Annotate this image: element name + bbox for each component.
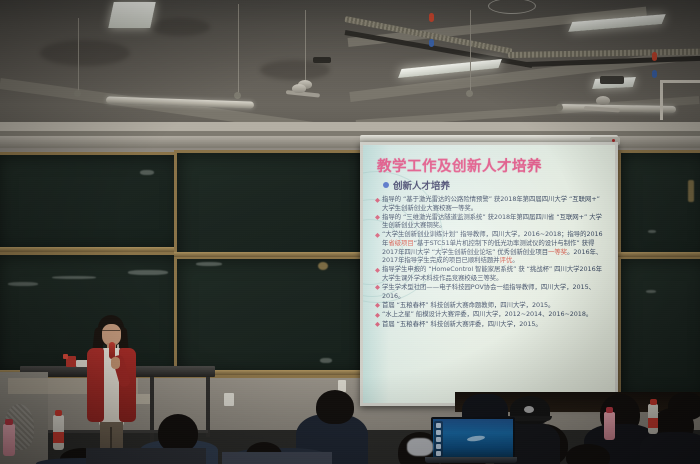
slide-bullet-text: “水上之星” 船模设计大赛评委，四川大学，2012~2014、2016~2018… bbox=[382, 310, 592, 319]
slide-bullet: ◆首届 “五粮春杯” 科技创新大赛评委，四川大学，2015。 bbox=[375, 320, 607, 329]
lit-fluorescent-panel bbox=[108, 2, 156, 28]
ceiling bbox=[0, 0, 700, 146]
slide-title: 教学工作及创新人才培养 bbox=[377, 155, 542, 176]
presenter-hand bbox=[111, 357, 120, 369]
slide-bullet-text: 指导的 “基于激光雷达的公路险情预警” 获2018年第四届四川大学 “互联网+”… bbox=[382, 195, 607, 212]
bullet-segment: 指导的 “基于激光雷达的公路险情预警” 获2018年第四届四川大学 “互联网+”… bbox=[382, 195, 600, 212]
student-laptop[interactable] bbox=[425, 417, 517, 464]
diamond-bullet-icon: ◆ bbox=[375, 320, 380, 329]
bullet-segment: 。 bbox=[512, 256, 518, 264]
highlighted-phrase: 一等奖 bbox=[548, 248, 567, 256]
student-desk bbox=[222, 452, 332, 464]
student-desk bbox=[86, 448, 206, 464]
lecture-hall-photo: 教学工作及创新人才培养 创新人才培养 ◆指导的 “基于激光雷达的公路险情预警” … bbox=[0, 0, 700, 464]
chalkboard-right-lower bbox=[618, 256, 700, 402]
audience-head bbox=[668, 392, 700, 420]
eyeglasses-icon bbox=[102, 330, 120, 335]
slide-bullet: ◆“大学生创新创业训练计划” 指导教师，四川大学，2016~2018；指导的20… bbox=[375, 230, 607, 264]
diamond-bullet-icon: ◆ bbox=[375, 231, 380, 265]
slide-bullet-text: “大学生创新创业训练计划” 指导教师，四川大学，2016~2018；指导的201… bbox=[382, 230, 607, 264]
water-bottle bbox=[604, 412, 615, 440]
projection-screen-frame: 教学工作及创新人才培养 创新人才培养 ◆指导的 “基于激光雷达的公路险情预警” … bbox=[360, 142, 618, 406]
bullet-segment: 指导学生申报的 “HomeControl 智能家居系统” 获 “挑战杯” 四川大… bbox=[382, 265, 602, 282]
slide-bullet-text: 首届 “五粮春杯” 科技创新大赛评委，四川大学，2015。 bbox=[382, 320, 542, 329]
slide-bullet-text: 指导学生申报的 “HomeControl 智能家居系统” 获 “挑战杯” 四川大… bbox=[382, 265, 607, 282]
bullet-segment: 首届 “五粮春杯” 科技创新大赛评委，四川大学，2015。 bbox=[382, 320, 542, 328]
audience-head bbox=[316, 390, 354, 424]
diamond-bullet-icon: ◆ bbox=[375, 283, 380, 300]
slide-bullet: ◆指导的 “三维激光雷达隧道监测系统” 获2018年第四届四川省 “互联网+” … bbox=[375, 213, 607, 230]
diamond-bullet-icon: ◆ bbox=[375, 311, 380, 320]
bullet-segment: 指导的 “三维激光雷达隧道监测系统” 获2018年第四届四川省 “互联网+” 大… bbox=[382, 213, 602, 230]
bullet-segment: “水上之星” 船模设计大赛评委，四川大学，2012~2014、2016~2018… bbox=[382, 310, 592, 318]
diamond-bullet-icon: ◆ bbox=[375, 301, 380, 310]
slide-bullet: ◆“水上之星” 船模设计大赛评委，四川大学，2012~2014、2016~201… bbox=[375, 310, 607, 319]
slide-bullet-list: ◆指导的 “基于激光雷达的公路险情预警” 获2018年第四届四川大学 “互联网+… bbox=[375, 195, 607, 329]
slide-bullet: ◆学生学术型社团——电子科技园POV协会一组指导教师，四川大学，2015、201… bbox=[375, 283, 607, 300]
slide-bullet-text: 首届 “五粮春杯” 科技创新大赛命题教师，四川大学，2015。 bbox=[382, 301, 554, 310]
audience-head bbox=[566, 444, 610, 464]
tissue-pack bbox=[407, 438, 433, 456]
slide-subtitle-row: 创新人才培养 bbox=[383, 178, 450, 192]
diamond-bullet-icon: ◆ bbox=[375, 213, 380, 230]
audience-head bbox=[158, 414, 198, 452]
diamond-bullet-icon: ◆ bbox=[375, 196, 380, 213]
slide-bullet: ◆首届 “五粮春杯” 科技创新大赛命题教师，四川大学，2015。 bbox=[375, 301, 607, 310]
slide-bullet: ◆指导的 “基于激光雷达的公路险情预警” 获2018年第四届四川大学 “互联网+… bbox=[375, 195, 607, 212]
water-bottle bbox=[3, 424, 15, 456]
slide-subtitle: 创新人才培养 bbox=[393, 178, 450, 192]
bullet-segment: 学生学术型社团——电子科技园POV协会一组指导教师，四川大学，2015、2016… bbox=[382, 283, 595, 300]
red-marker bbox=[429, 13, 434, 22]
projected-slide: 教学工作及创新人才培养 创新人才培养 ◆指导的 “基于激光雷达的公路险情预警” … bbox=[363, 145, 615, 403]
slide-bullet-text: 学生学术型社团——电子科技园POV协会一组指导教师，四川大学，2015、2016… bbox=[382, 283, 607, 300]
bullet-dot-icon bbox=[383, 182, 389, 188]
slide-bullet-text: 指导的 “三维激光雷达隧道监测系统” 获2018年第四届四川省 “互联网+” 大… bbox=[382, 213, 607, 230]
laptop-base bbox=[425, 457, 517, 463]
chalkboard-left-upper bbox=[0, 152, 184, 254]
chalkboard-center-lower bbox=[174, 256, 366, 378]
chalkboard-right bbox=[618, 150, 700, 266]
laptop-screen bbox=[431, 417, 515, 461]
bullet-segment: 首届 “五粮春杯” 科技创新大赛命题教师，四川大学，2015。 bbox=[382, 301, 554, 309]
blue-marker bbox=[429, 39, 434, 47]
highlighted-phrase: 省级项目 bbox=[388, 239, 413, 247]
diamond-bullet-icon: ◆ bbox=[375, 266, 380, 283]
slide-bullet: ◆指导学生申报的 “HomeControl 智能家居系统” 获 “挑战杯” 四川… bbox=[375, 265, 607, 282]
highlighted-phrase: 评优 bbox=[500, 256, 513, 264]
